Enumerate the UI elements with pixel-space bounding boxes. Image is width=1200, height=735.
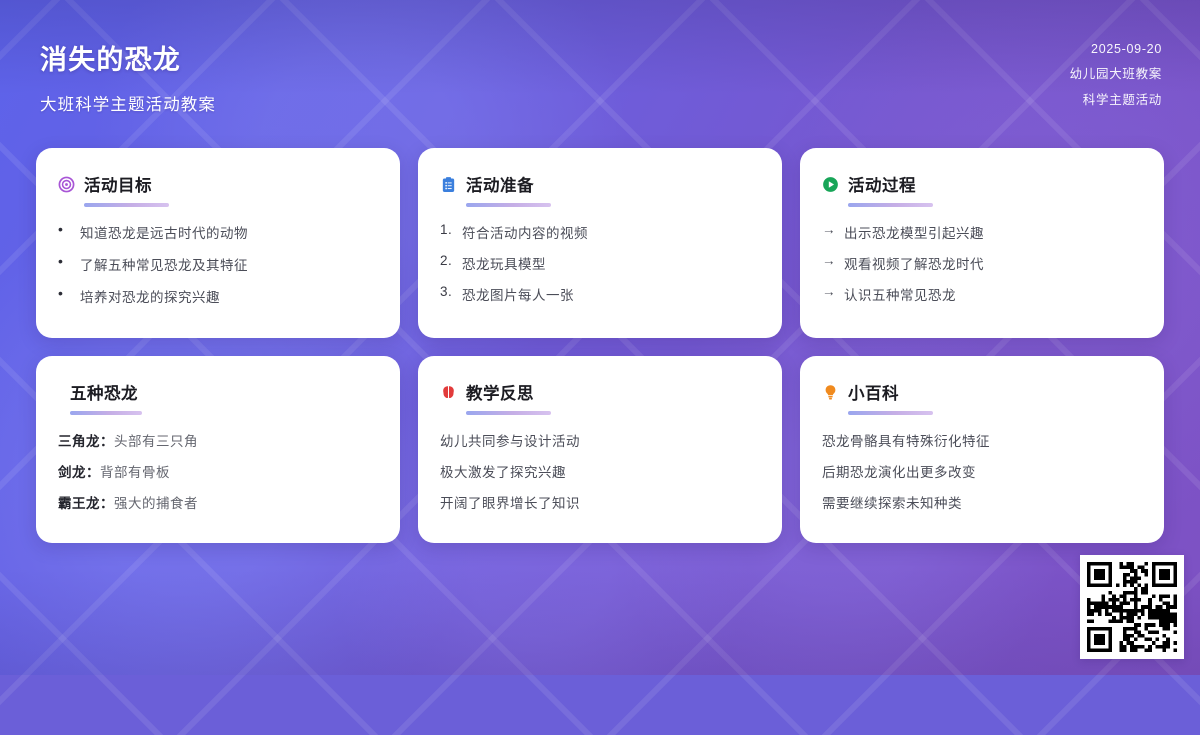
card-body: 幼儿共同参与设计活动极大激发了探究兴趣开阔了眼界增长了知识	[440, 430, 760, 523]
list-item: 2.恐龙玩具模型	[440, 253, 760, 273]
list-item: 3.恐龙图片每人一张	[440, 284, 760, 304]
target-icon	[58, 176, 75, 193]
qr-code[interactable]	[1080, 555, 1184, 659]
list-item-text: 观看视频了解恐龙时代	[844, 253, 984, 273]
term-description: 背部有骨板	[100, 465, 170, 480]
list-item: 霸王龙：强大的捕食者	[58, 492, 378, 512]
card-6: 小百科恐龙骨骼具有特殊衍化特征后期恐龙演化出更多改变需要继续探索未知种类	[800, 356, 1164, 543]
card-title-underline	[848, 411, 933, 415]
list-item: •培养对恐龙的探究兴趣	[58, 286, 378, 306]
card-2: 活动准备1.符合活动内容的视频2.恐龙玩具模型3.恐龙图片每人一张	[418, 148, 782, 338]
card-title: 小百科	[848, 380, 899, 404]
card-body: 1.符合活动内容的视频2.恐龙玩具模型3.恐龙图片每人一张	[440, 222, 760, 315]
card-title: 活动准备	[466, 172, 534, 196]
term-label: 霸王龙：	[58, 496, 114, 511]
number-marker: 2.	[440, 253, 462, 273]
list-item-text: 符合活动内容的视频	[462, 222, 588, 242]
list-item-text: 知道恐龙是远古时代的动物	[80, 222, 248, 242]
card-title-underline	[84, 203, 169, 207]
card-body: →出示恐龙模型引起兴趣→观看视频了解恐龙时代→认识五种常见恐龙	[822, 222, 1142, 315]
card-body: 恐龙骨骼具有特殊衍化特征后期恐龙演化出更多改变需要继续探索未知种类	[822, 430, 1142, 523]
number-marker: 1.	[440, 222, 462, 242]
bullet-marker: •	[58, 222, 80, 242]
card-grid: 活动目标•知道恐龙是远古时代的动物•了解五种常见恐龙及其特征•培养对恐龙的探究兴…	[36, 148, 1164, 543]
term-description: 强大的捕食者	[114, 496, 198, 511]
list-item: →认识五种常见恐龙	[822, 284, 1142, 304]
list-item: →出示恐龙模型引起兴趣	[822, 222, 1142, 242]
play-circle-icon	[822, 176, 839, 193]
brain-icon	[440, 384, 457, 401]
list-item: 恐龙骨骼具有特殊衍化特征	[822, 430, 1142, 450]
card-body: •知道恐龙是远古时代的动物•了解五种常见恐龙及其特征•培养对恐龙的探究兴趣	[58, 222, 378, 318]
list-item-text: 认识五种常见恐龙	[844, 284, 956, 304]
card-header: 活动过程	[822, 172, 1142, 196]
term-label: 剑龙：	[58, 465, 100, 480]
meta-topic: 科学主题活动	[1070, 89, 1162, 108]
list-item: 1.符合活动内容的视频	[440, 222, 760, 242]
card-5: 教学反思幼儿共同参与设计活动极大激发了探究兴趣开阔了眼界增长了知识	[418, 356, 782, 543]
list-item: 开阔了眼界增长了知识	[440, 492, 760, 512]
arrow-marker: →	[822, 253, 844, 273]
card-title-underline	[466, 203, 551, 207]
arrow-marker: →	[822, 284, 844, 304]
page-title: 消失的恐龙	[40, 38, 216, 77]
list-item: 三角龙：头部有三只角	[58, 430, 378, 450]
card-header: 五种恐龙	[58, 380, 378, 404]
meta-date: 2025-09-20	[1070, 42, 1162, 56]
card-body: 三角龙：头部有三只角剑龙：背部有骨板霸王龙：强大的捕食者	[58, 430, 378, 523]
list-item-text: 了解五种常见恐龙及其特征	[80, 254, 248, 274]
list-item: 幼儿共同参与设计活动	[440, 430, 760, 450]
card-title: 五种恐龙	[70, 380, 138, 404]
header-meta: 2025-09-20 幼儿园大班教案 科学主题活动	[1070, 42, 1162, 108]
page-subtitle: 大班科学主题活动教案	[40, 91, 216, 115]
card-title: 教学反思	[466, 380, 534, 404]
clipboard-icon	[440, 176, 457, 193]
list-item: •知道恐龙是远古时代的动物	[58, 222, 378, 242]
list-item: →观看视频了解恐龙时代	[822, 253, 1142, 273]
card-title: 活动过程	[848, 172, 916, 196]
meta-category: 幼儿园大班教案	[1070, 63, 1162, 82]
list-item-text: 培养对恐龙的探究兴趣	[80, 286, 220, 306]
term-label: 三角龙：	[58, 434, 114, 449]
card-1: 活动目标•知道恐龙是远古时代的动物•了解五种常见恐龙及其特征•培养对恐龙的探究兴…	[36, 148, 400, 338]
title-block: 消失的恐龙 大班科学主题活动教案	[40, 38, 216, 115]
list-item: 需要继续探索未知种类	[822, 492, 1142, 512]
card-3: 活动过程→出示恐龙模型引起兴趣→观看视频了解恐龙时代→认识五种常见恐龙	[800, 148, 1164, 338]
slide-header: 消失的恐龙 大班科学主题活动教案 2025-09-20 幼儿园大班教案 科学主题…	[0, 0, 1200, 140]
list-item-text: 出示恐龙模型引起兴趣	[844, 222, 984, 242]
card-title-underline	[848, 203, 933, 207]
list-item-text: 恐龙玩具模型	[462, 253, 546, 273]
list-item-text: 恐龙图片每人一张	[462, 284, 574, 304]
list-item: 后期恐龙演化出更多改变	[822, 461, 1142, 481]
arrow-marker: →	[822, 222, 844, 242]
card-title-underline	[466, 411, 551, 415]
bullet-marker: •	[58, 254, 80, 274]
number-marker: 3.	[440, 284, 462, 304]
lightbulb-icon	[822, 384, 839, 401]
card-header: 活动准备	[440, 172, 760, 196]
term-description: 头部有三只角	[114, 434, 198, 449]
qr-code-image	[1087, 562, 1177, 652]
list-item: 剑龙：背部有骨板	[58, 461, 378, 481]
card-header: 小百科	[822, 380, 1142, 404]
card-header: 教学反思	[440, 380, 760, 404]
list-item: •了解五种常见恐龙及其特征	[58, 254, 378, 274]
card-title: 活动目标	[84, 172, 152, 196]
bullet-marker: •	[58, 286, 80, 306]
card-4: 五种恐龙三角龙：头部有三只角剑龙：背部有骨板霸王龙：强大的捕食者	[36, 356, 400, 543]
card-title-underline	[70, 411, 142, 415]
list-item: 极大激发了探究兴趣	[440, 461, 760, 481]
card-header: 活动目标	[58, 172, 378, 196]
